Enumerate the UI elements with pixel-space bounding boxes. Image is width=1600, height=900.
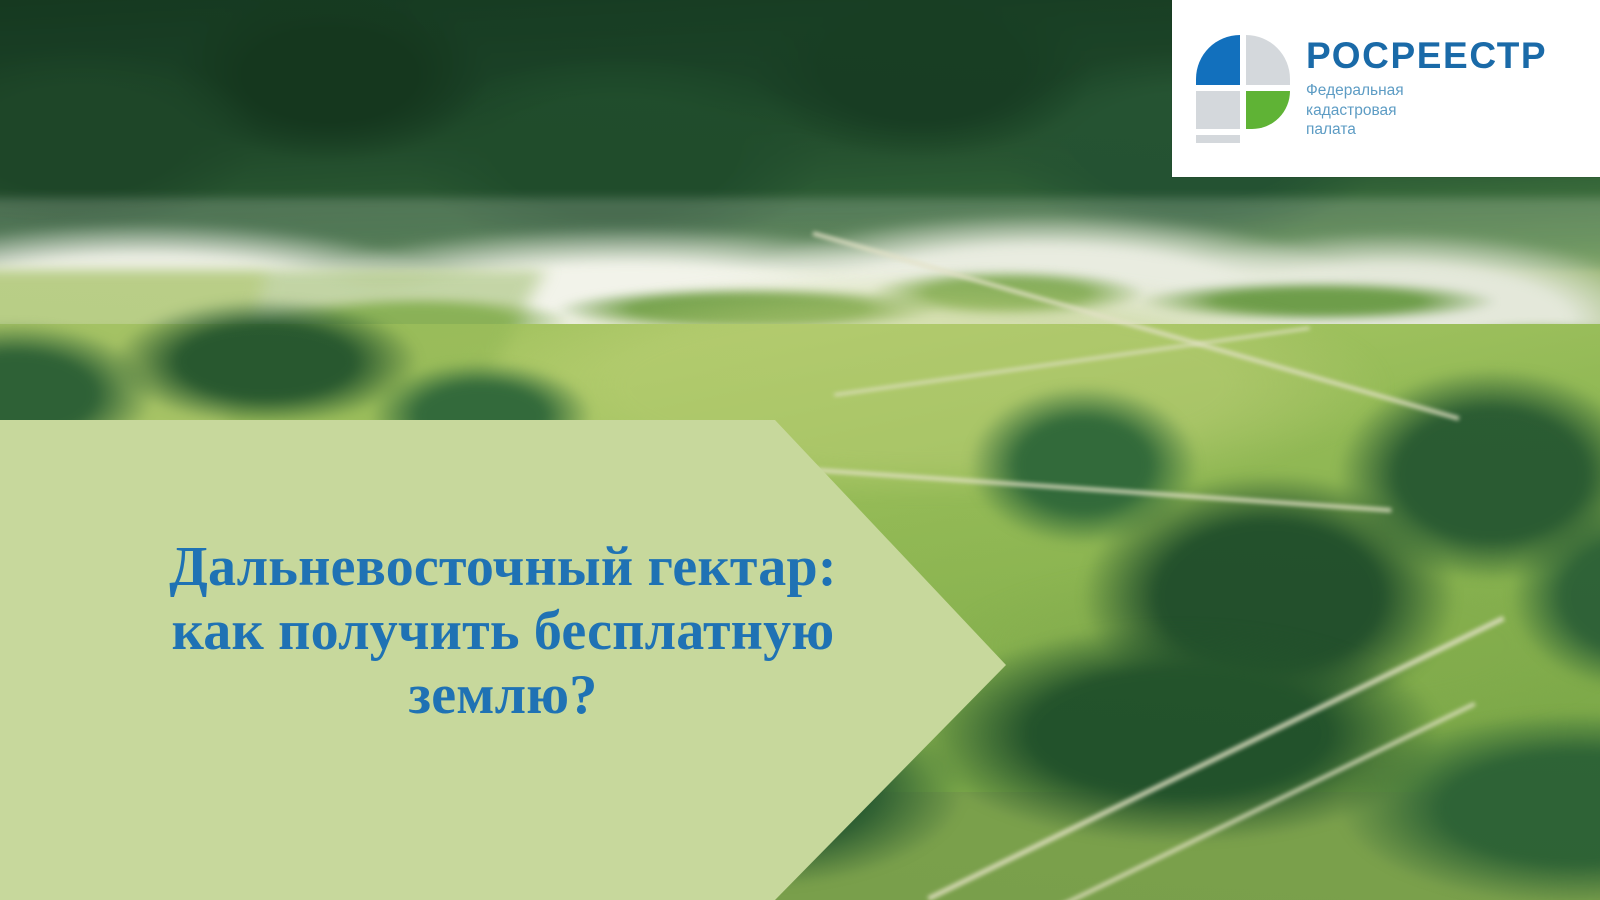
title-slide: Дальневосточный гектар: как получить бес… xyxy=(0,0,1600,900)
logo-plate: РОСРЕЕСТР Федеральная кадастровая палата xyxy=(1172,0,1600,177)
rosreestr-logo-mark xyxy=(1194,33,1292,145)
logo-wordmark: РОСРЕЕСТР Федеральная кадастровая палата xyxy=(1306,37,1547,140)
page-title: Дальневосточный гектар: как получить бес… xyxy=(103,536,903,727)
logo-organization-name: РОСРЕЕСТР xyxy=(1306,37,1547,74)
logo-department-name: Федеральная кадастровая палата xyxy=(1306,81,1547,140)
